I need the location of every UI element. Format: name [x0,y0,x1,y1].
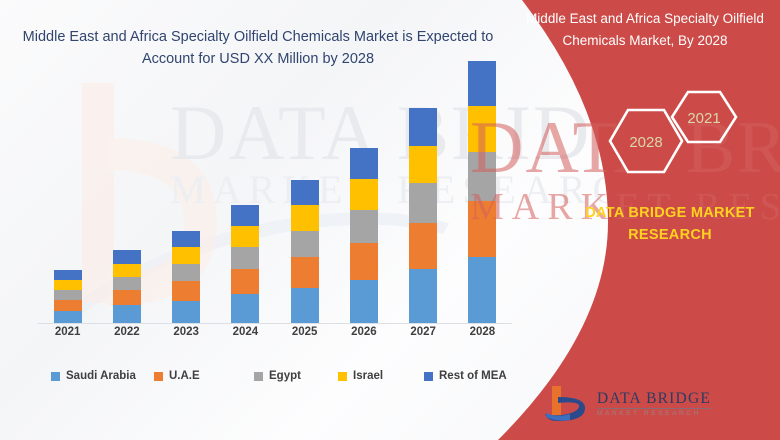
hexagon-pair-graphic: 2021 2028 [580,88,760,188]
bar-segment[interactable] [113,264,141,277]
red-panel-title: Middle East and Africa Specialty Oilfiel… [520,8,770,51]
bar-group [160,231,212,323]
x-axis-labels: 20212022202320242025202620272028 [38,326,512,344]
bar-segment[interactable] [409,269,437,323]
bar-segment[interactable] [409,223,437,269]
chart-plot-area: 20212022202320242025202620272028 [38,60,512,342]
bar-segment[interactable] [409,108,437,145]
bar-segment[interactable] [172,247,200,264]
bar-segment[interactable] [409,146,437,183]
bar-segment[interactable] [231,226,259,247]
stacked-bar-chart: 20212022202320242025202620272028 [20,60,520,360]
bar-segment[interactable] [172,231,200,248]
legend-swatch [51,372,60,381]
bar-segment[interactable] [231,294,259,323]
x-axis-label: 2024 [219,326,271,344]
bar-segment[interactable] [350,243,378,280]
x-axis-label: 2026 [338,326,390,344]
brand-heading-line2: RESEARCH [560,225,780,247]
data-bridge-logo: DATA BRIDGE MARKET RESEARCH [545,382,745,426]
hexagon-2028-label: 2028 [629,134,662,151]
x-axis-label: 2021 [42,326,94,344]
bar-segment[interactable] [350,280,378,323]
stacked-bar[interactable] [231,205,259,323]
bar-segment[interactable] [291,231,319,257]
legend-item[interactable]: Egypt [254,370,301,382]
bar-segment[interactable] [113,290,141,305]
x-axis-label: 2022 [101,326,153,344]
bar-segment[interactable] [113,250,141,263]
stacked-bar[interactable] [54,270,82,323]
logo-name: DATA BRIDGE [597,391,711,407]
bar-segment[interactable] [231,205,259,226]
legend-label: Egypt [269,370,301,382]
bar-segment[interactable] [54,280,82,290]
brand-heading-line1: DATA BRIDGE MARKET [560,203,780,225]
infographic-canvas: DATA BRIDGE MARKET RESEARCH Middle East … [0,0,780,440]
logo-tagline: MARKET RESEARCH [597,411,711,418]
logo-wordmark: DATA BRIDGE MARKET RESEARCH [597,391,711,418]
hexagon-2021-label: 2021 [687,110,720,127]
legend-swatch [338,372,347,381]
bar-segment[interactable] [54,270,82,280]
legend-label: U.A.E [169,370,200,382]
bar-group [42,270,94,323]
bar-segment[interactable] [172,301,200,323]
bar-segment[interactable] [54,290,82,300]
bar-series-container [38,61,512,323]
bar-group [397,108,449,323]
bar-segment[interactable] [409,183,437,223]
bar-segment[interactable] [350,210,378,243]
bar-segment[interactable] [113,277,141,290]
bar-segment[interactable] [291,205,319,230]
stacked-bar[interactable] [350,148,378,323]
bar-segment[interactable] [172,281,200,301]
logo-divider [597,408,711,409]
legend-swatch [254,372,263,381]
bar-segment[interactable] [291,288,319,323]
x-axis-line [38,323,512,324]
bar-segment[interactable] [350,148,378,179]
stacked-bar[interactable] [172,231,200,323]
legend-label: Saudi Arabia [66,370,136,382]
legend-item[interactable]: U.A.E [154,370,200,382]
bar-segment[interactable] [231,247,259,269]
legend-label: Israel [353,370,383,382]
stacked-bar[interactable] [113,250,141,323]
bar-segment[interactable] [291,180,319,205]
bar-segment[interactable] [113,305,141,323]
legend-swatch [424,372,433,381]
x-axis-label: 2023 [160,326,212,344]
bar-segment[interactable] [172,264,200,282]
bar-group [219,205,271,323]
bar-segment[interactable] [54,311,82,323]
x-axis-label: 2025 [279,326,331,344]
bar-segment[interactable] [291,257,319,288]
bar-group [101,250,153,323]
stacked-bar[interactable] [291,180,319,323]
bar-segment[interactable] [231,269,259,294]
hexagon-2028-icon: 2028 [610,110,682,172]
x-axis-label: 2027 [397,326,449,344]
bar-segment[interactable] [54,300,82,311]
bar-segment[interactable] [350,179,378,210]
legend-item[interactable]: Israel [338,370,383,382]
legend-item[interactable]: Saudi Arabia [51,370,136,382]
bar-group [338,148,390,323]
bar-group [279,180,331,323]
b-logo-icon [545,384,591,424]
stacked-bar[interactable] [409,108,437,323]
hexagon-2021-icon: 2021 [672,92,736,142]
brand-name-heading: DATA BRIDGE MARKET RESEARCH [560,203,780,247]
legend-swatch [154,372,163,381]
